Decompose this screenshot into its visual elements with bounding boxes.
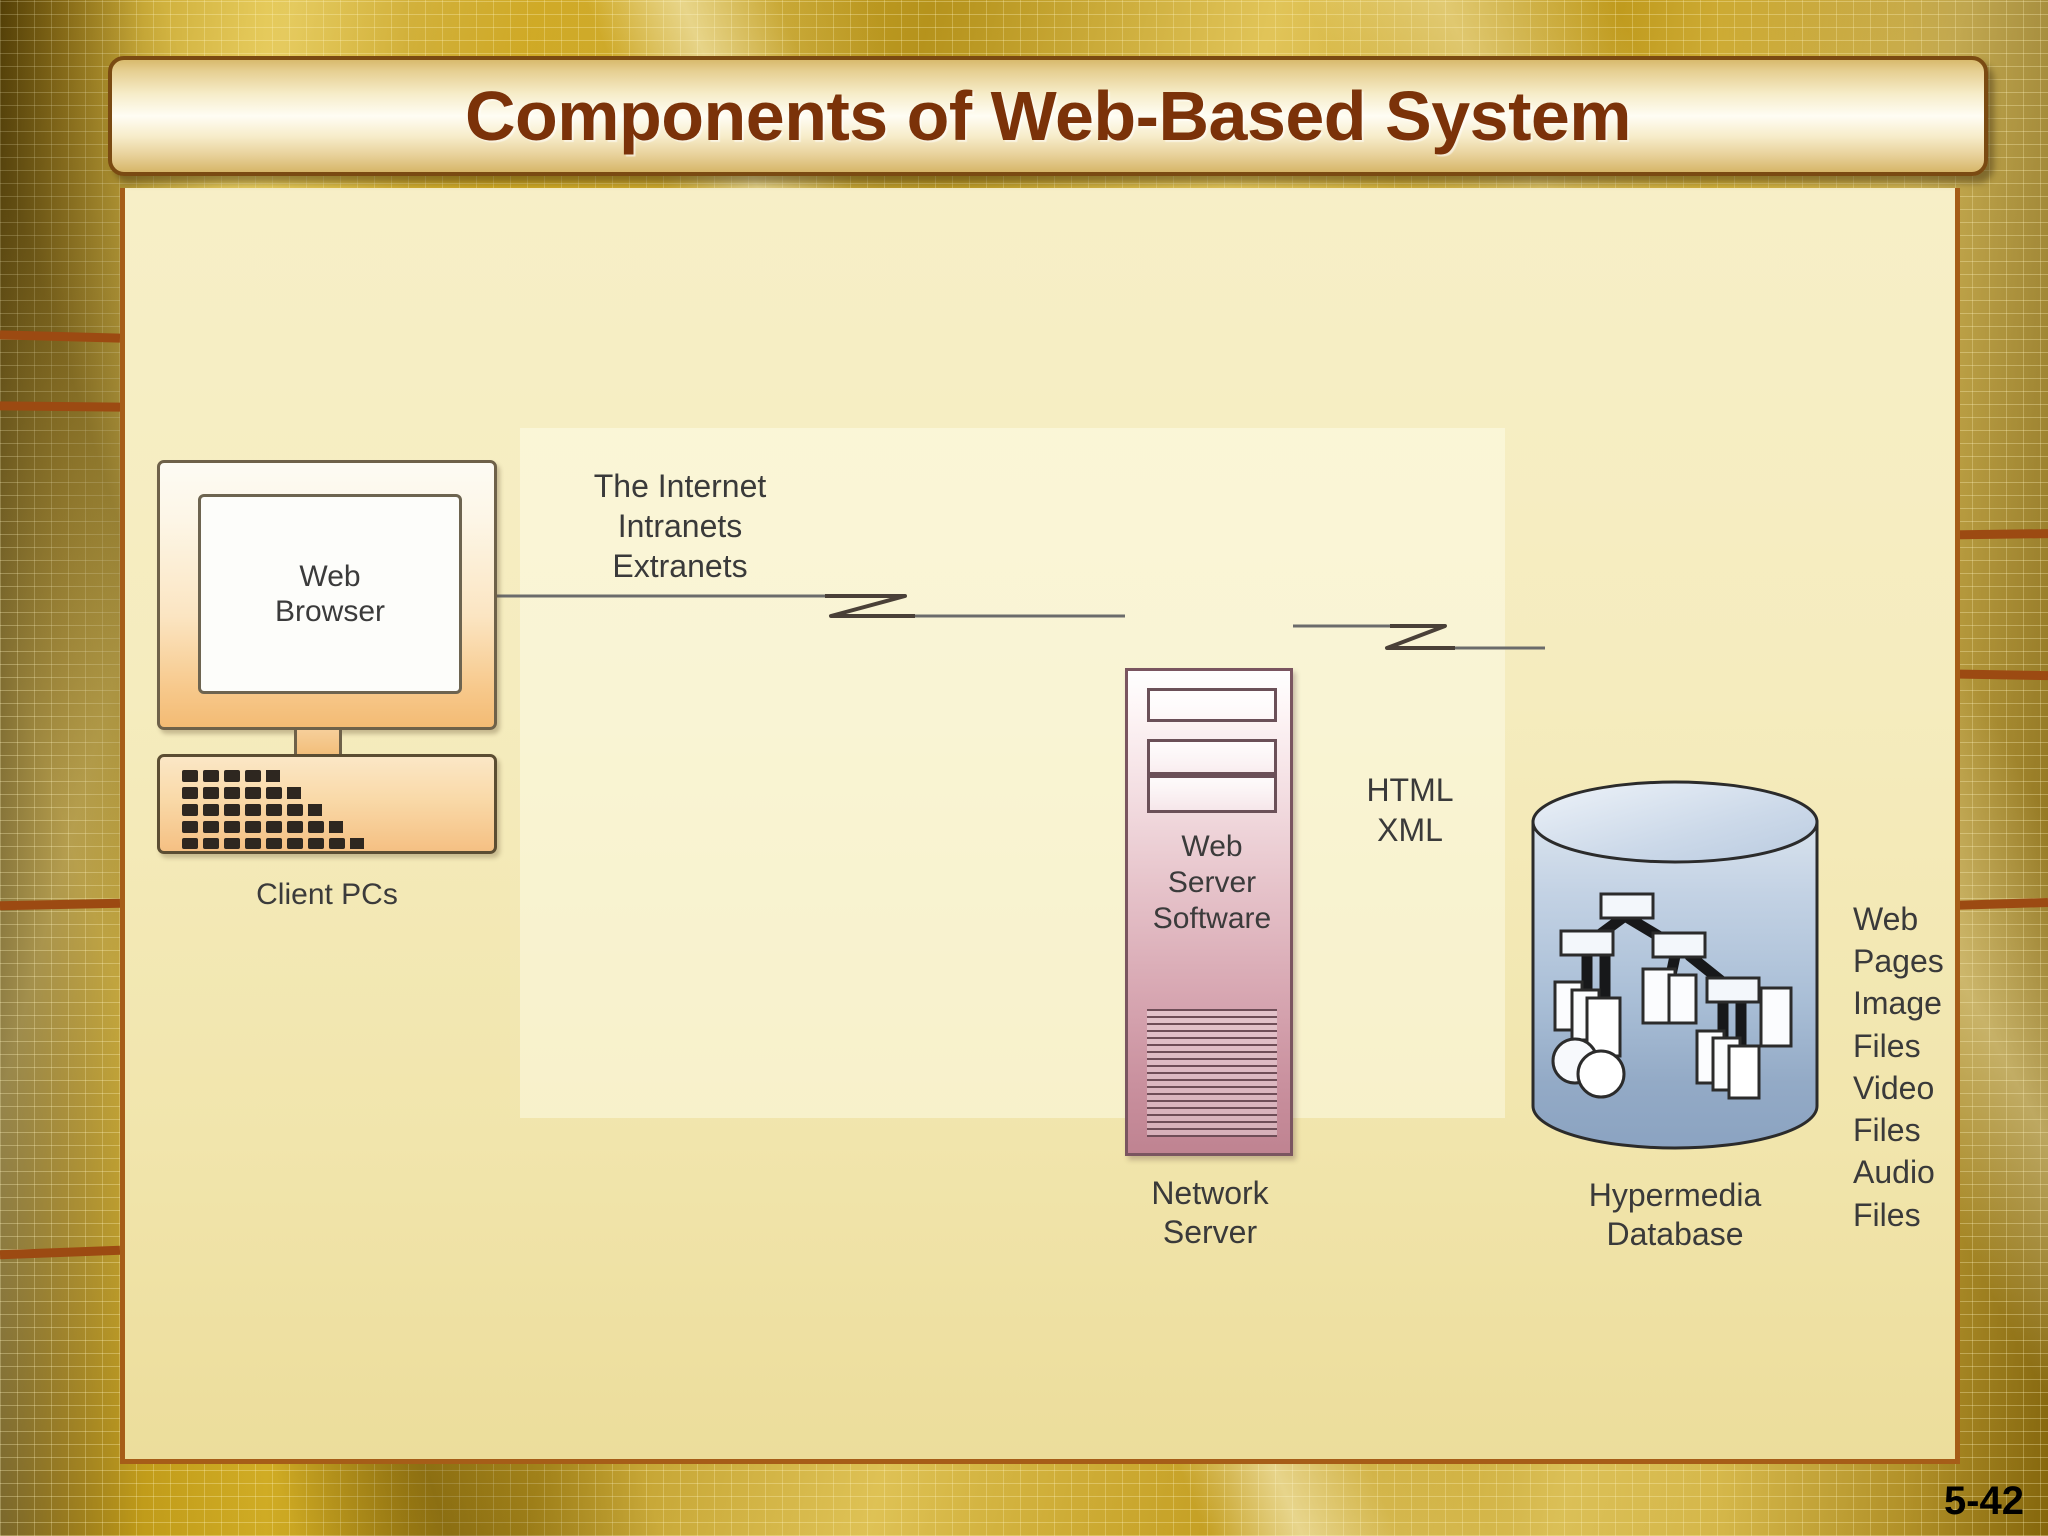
hypermedia-database-cylinder (1525, 776, 1825, 1158)
accent-bar-left-2 (0, 401, 120, 411)
slide-canvas: Components of Web-Based System Web Brows (0, 0, 2048, 1536)
client-pcs-label: Client PCs (157, 878, 497, 912)
client-monitor: Web Browser (157, 460, 497, 730)
monitor-stand (294, 730, 342, 756)
accent-bar-left-4 (0, 1246, 120, 1260)
browser-label-line2: Browser (275, 594, 385, 629)
server-drive-bay-3 (1147, 775, 1277, 813)
content-types-list: Web Pages Image Files Video Files Audio … (1853, 898, 1955, 1236)
content-type-item: Web Pages (1853, 898, 1955, 982)
network-link-right-line1: HTML (1315, 770, 1505, 810)
network-link-left-line1: The Internet (535, 466, 825, 506)
network-link-left-label: The Internet Intranets Extranets (535, 466, 825, 586)
server-text-line1: Web (1128, 829, 1296, 865)
client-keyboard (157, 754, 497, 854)
server-drive-bay-1 (1147, 688, 1277, 722)
server-text-line2: Server (1128, 865, 1296, 901)
database-cylinder-icon (1525, 776, 1825, 1158)
db-caption-line1: Hypermedia (1500, 1176, 1850, 1215)
accent-bar-left-3 (0, 899, 120, 911)
server-caption-line2: Server (1055, 1213, 1365, 1252)
page-title: Components of Web-Based System (465, 76, 1631, 156)
network-server-tower: Web Server Software (1125, 668, 1293, 1156)
content-type-item: Video Files (1853, 1067, 1955, 1151)
page-number: 5-42 (1944, 1479, 2024, 1524)
network-link-right-label: HTML XML (1315, 770, 1505, 850)
network-link-left-line3: Extranets (535, 546, 825, 586)
network-server-caption: Network Server (1055, 1174, 1365, 1252)
db-caption-line2: Database (1500, 1215, 1850, 1254)
network-link-right-line2: XML (1315, 810, 1505, 850)
network-link-left-line2: Intranets (535, 506, 825, 546)
web-server-software-label: Web Server Software (1128, 829, 1296, 937)
web-based-system-diagram: Web Browser (125, 188, 1955, 1459)
slide-title-bar: Components of Web-Based System (108, 56, 1988, 176)
server-caption-line1: Network (1055, 1174, 1365, 1213)
server-drive-bay-2 (1147, 739, 1277, 775)
keyboard-keys-icon (160, 757, 497, 854)
slide-content-panel: Web Browser (120, 188, 1960, 1464)
server-vent-grille (1147, 1009, 1277, 1137)
browser-label-line1: Web (299, 559, 360, 594)
hypermedia-database-caption: Hypermedia Database (1500, 1176, 1850, 1254)
content-type-item: Image Files (1853, 982, 1955, 1066)
server-text-line3: Software (1128, 901, 1296, 937)
browser-screen: Web Browser (198, 494, 462, 694)
content-type-item: Audio Files (1853, 1151, 1955, 1235)
accent-bar-left-1 (0, 330, 120, 342)
